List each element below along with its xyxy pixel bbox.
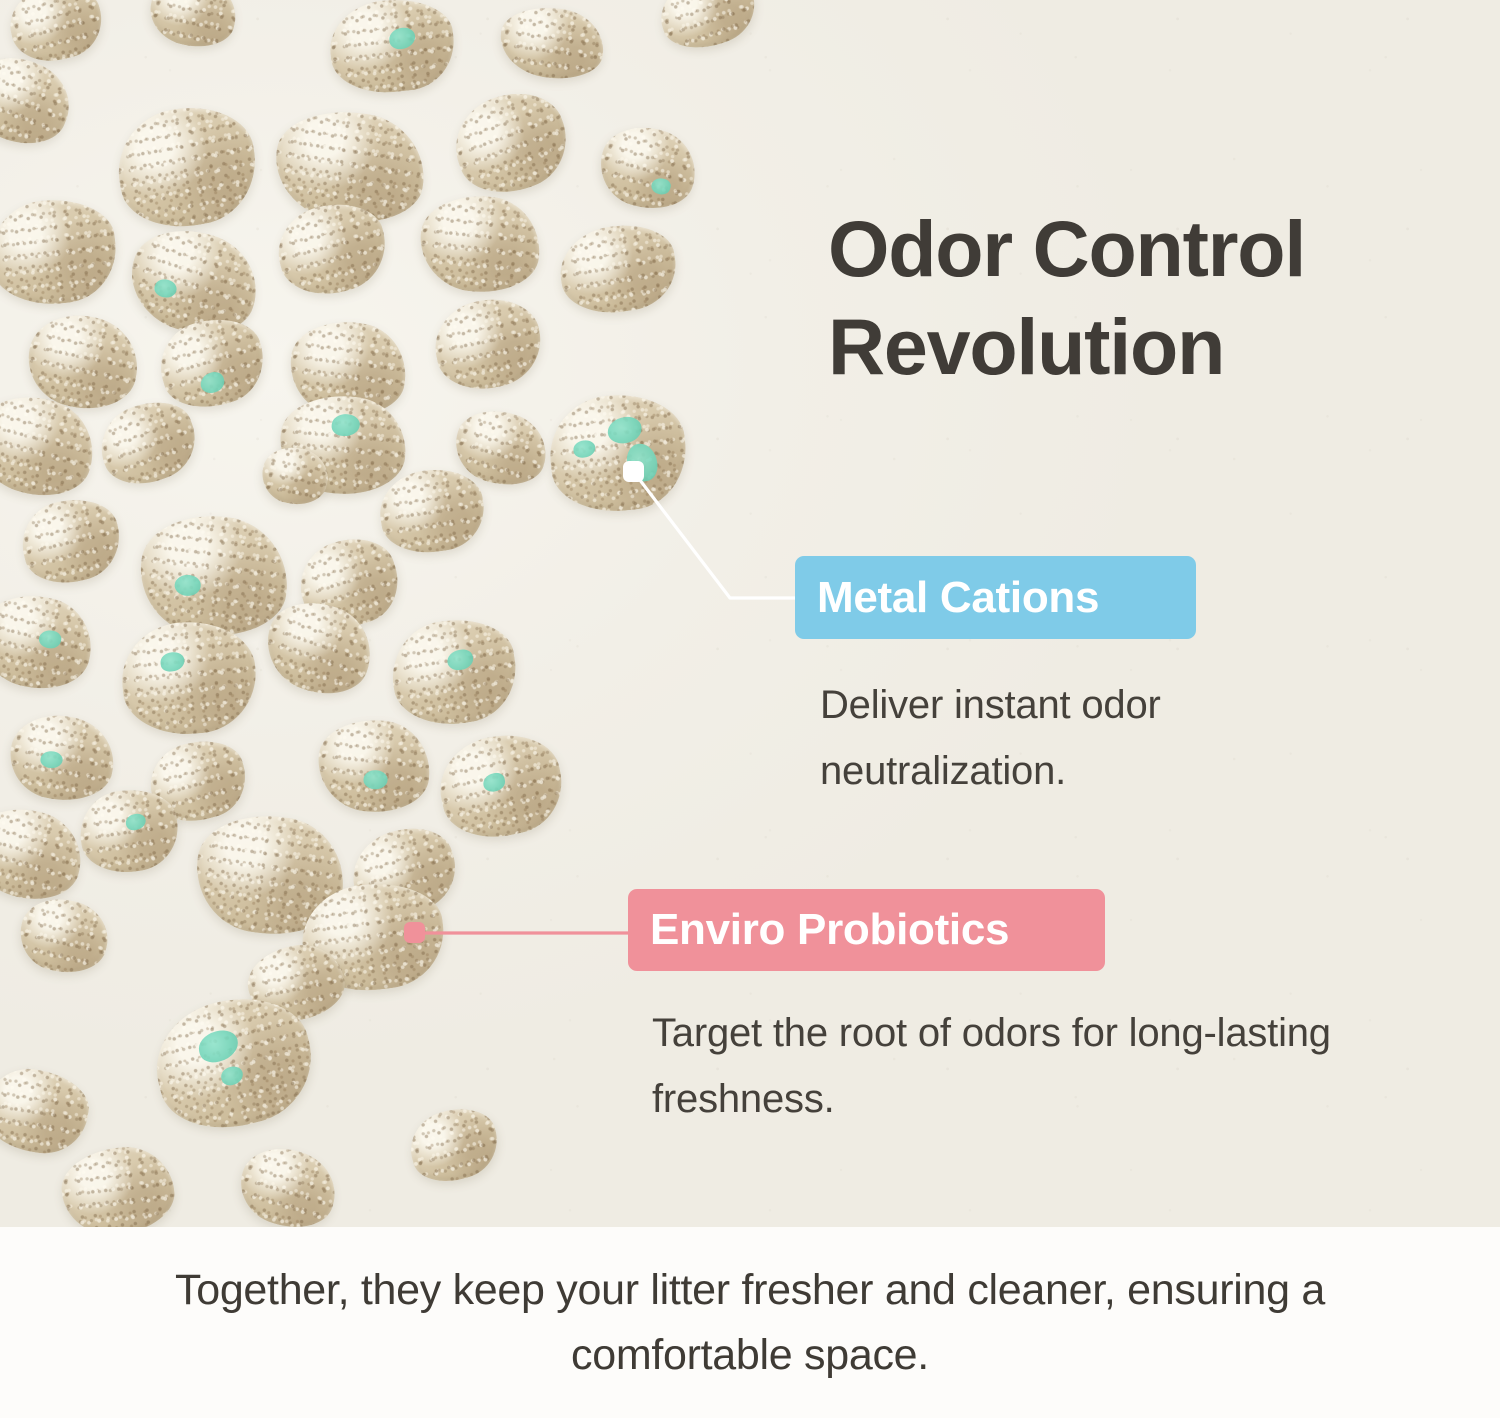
- page-title-line-1: Odor Control: [828, 200, 1448, 298]
- teal-speckle: [125, 812, 147, 831]
- granule: [109, 97, 265, 237]
- teal-speckle: [446, 648, 475, 672]
- marker-enviro-probiotics: [404, 922, 425, 943]
- granule: [385, 611, 524, 733]
- teal-speckle: [37, 628, 63, 651]
- granule: [75, 784, 183, 879]
- granule: [591, 116, 705, 219]
- granule: [402, 1099, 506, 1191]
- page-title-line-2: Revolution: [828, 298, 1448, 396]
- badge-enviro-probiotics: Enviro Probiotics: [628, 889, 1105, 971]
- granule: [496, 1, 609, 85]
- granule: [144, 0, 242, 54]
- teal-speckle: [649, 176, 672, 197]
- granule-highlighted-metal-cations: [544, 388, 691, 518]
- teal-speckle: [606, 416, 643, 445]
- granule: [13, 891, 115, 981]
- litter-granule-photo: Odor Control Revolution Metal Cations De…: [0, 0, 1500, 1227]
- granule: [257, 442, 332, 510]
- marker-metal-cations: [623, 461, 644, 482]
- description-metal-cations: Deliver instant odor neutralization.: [820, 672, 1340, 805]
- granule: [143, 983, 325, 1143]
- granule: [375, 463, 489, 559]
- teal-speckle: [39, 749, 64, 770]
- teal-speckle: [198, 369, 227, 395]
- granule: [431, 724, 571, 847]
- teal-speckle: [388, 27, 416, 51]
- granule: [428, 291, 549, 398]
- granule: [313, 714, 434, 817]
- teal-speckle: [331, 413, 361, 437]
- granule: [652, 0, 764, 59]
- granule: [58, 1142, 178, 1227]
- page-title: Odor Control Revolution: [828, 200, 1448, 396]
- teal-speckle: [363, 769, 389, 790]
- granule: [554, 217, 682, 320]
- product-infographic: Odor Control Revolution Metal Cations De…: [0, 0, 1500, 1418]
- granule: [0, 1062, 94, 1159]
- granule: [0, 584, 101, 700]
- teal-speckle: [173, 574, 201, 598]
- granule: [0, 194, 121, 311]
- teal-speckle: [481, 771, 506, 793]
- granule: [117, 616, 260, 739]
- granule: [14, 490, 128, 592]
- caption-band: Together, they keep your litter fresher …: [0, 1227, 1500, 1418]
- teal-speckle: [195, 1027, 241, 1066]
- granule: [415, 190, 544, 298]
- granule: [231, 1138, 345, 1227]
- granule: [326, 0, 459, 98]
- teal-speckle: [219, 1064, 245, 1087]
- teal-speckle: [160, 651, 186, 672]
- summary-caption: Together, they keep your litter fresher …: [140, 1258, 1360, 1387]
- badge-metal-cations: Metal Cations: [795, 556, 1196, 639]
- teal-speckle: [152, 277, 178, 301]
- teal-speckle: [573, 439, 597, 458]
- granule: [442, 79, 580, 208]
- description-enviro-probiotics: Target the root of odors for long-lastin…: [652, 1000, 1332, 1133]
